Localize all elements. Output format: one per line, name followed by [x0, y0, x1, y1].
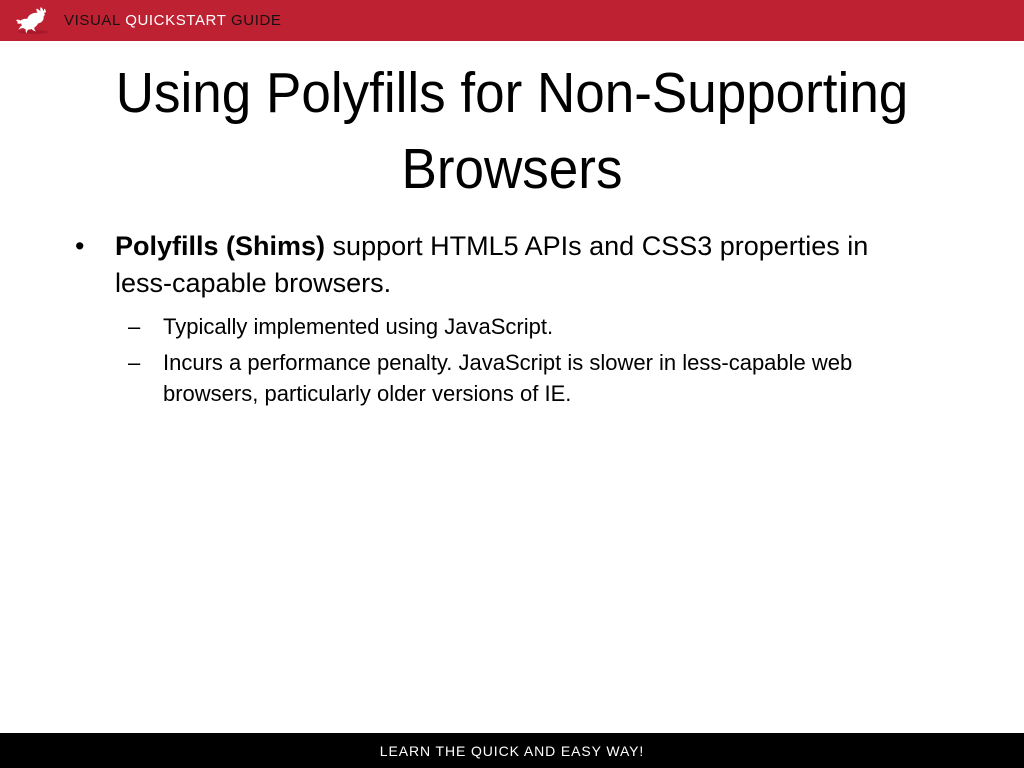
slide-body: •Polyfills (Shims) support HTML5 APIs an…: [0, 228, 1024, 414]
brand-title-visual: VISUAL: [64, 12, 120, 29]
bullet-bold-lead: Polyfills (Shims): [115, 231, 325, 261]
sub-bullet-text: Incurs a performance penalty. JavaScript…: [163, 350, 852, 406]
bullet-level1: •Polyfills (Shims) support HTML5 APIs an…: [0, 228, 1024, 303]
slide-canvas: VISUAL QUICKSTART GUIDE Using Polyfills …: [0, 0, 1024, 768]
brand-title: VISUAL QUICKSTART GUIDE: [64, 13, 282, 29]
brand-title-guide: GUIDE: [231, 12, 282, 29]
brand-title-quickstart: QUICKSTART: [125, 12, 226, 29]
brand-header-bar: VISUAL QUICKSTART GUIDE: [0, 0, 1024, 41]
bullet-marker-icon: •: [75, 228, 84, 265]
footer-tagline: LEARN THE QUICK AND EASY WAY!: [380, 744, 644, 758]
slide-title: Using Polyfills for Non-Supporting Brows…: [94, 56, 931, 208]
footer-bar: LEARN THE QUICK AND EASY WAY!: [0, 733, 1024, 768]
rabbit-logo-icon: [12, 6, 54, 36]
bullet-level2: –Incurs a performance penalty. JavaScrip…: [0, 347, 1024, 409]
sub-bullet-text: Typically implemented using JavaScript.: [163, 314, 553, 339]
bullet-level2: –Typically implemented using JavaScript.: [0, 311, 1024, 342]
dash-marker-icon: –: [128, 347, 140, 378]
dash-marker-icon: –: [128, 311, 140, 342]
